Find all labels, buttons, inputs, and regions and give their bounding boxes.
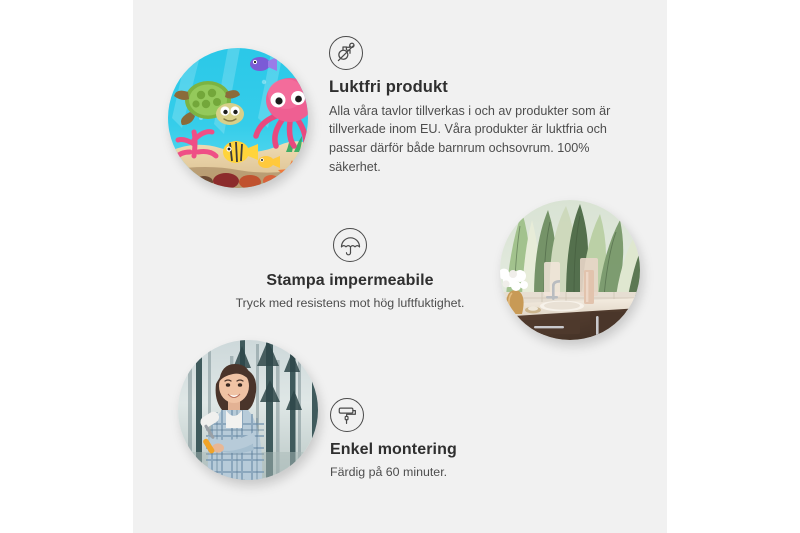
feature-title: Luktfri produkt	[329, 78, 619, 98]
umbrella-icon	[333, 228, 367, 262]
media-circle-painter	[178, 340, 318, 480]
feature-odourless: Luktfri produkt Alla våra tavlor tillver…	[329, 36, 619, 176]
feature-description: Färdig på 60 minuter.	[330, 463, 580, 481]
media-circle-kids-sea	[168, 48, 308, 188]
paint-roller-icon	[330, 398, 364, 432]
feature-mounting: Enkel montering Färdig på 60 minuter.	[330, 398, 580, 482]
feature-description: Alla våra tavlor tillverkas i och av pro…	[329, 102, 619, 177]
feature-title: Stampa impermeabile	[215, 271, 485, 290]
feature-title: Enkel montering	[330, 440, 580, 459]
feature-waterproof: Stampa impermeabile Tryck med resistens …	[215, 228, 485, 313]
woman-with-paint-roller	[178, 340, 318, 480]
no-fragrance-icon	[329, 36, 363, 70]
bathroom-botanical-wallpaper	[500, 200, 640, 340]
product-feature-banner: Luktfri produkt Alla våra tavlor tillver…	[0, 0, 800, 533]
media-circle-bathroom	[500, 200, 640, 340]
underwater-kids-illustration	[168, 48, 308, 188]
feature-description: Tryck med resistens mot hög luftfuktighe…	[215, 294, 485, 312]
